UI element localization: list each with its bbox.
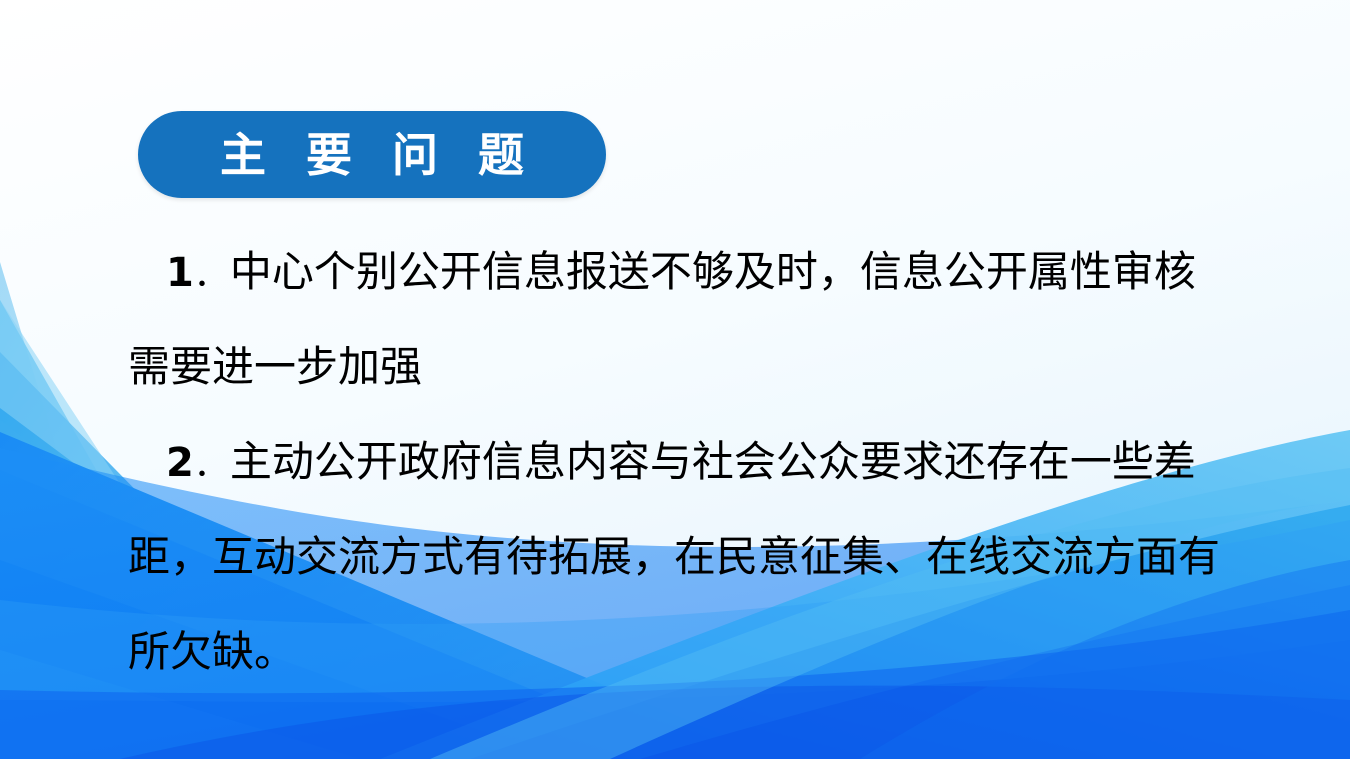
body-line-3-text: 主动公开政府信息内容与社会公众要求还存在一些差 — [230, 440, 1196, 486]
title-badge-label: 主 要 问 题 — [208, 132, 536, 178]
body-line-1-text: 中心个别公开信息报送不够及时，信息公开属性审核 — [230, 250, 1196, 296]
title-badge: 主 要 问 题 — [138, 111, 606, 198]
body-line-5: 所欠缺。 — [0, 606, 1350, 701]
list-separator-1: ． — [194, 257, 230, 294]
list-marker-2: 2 — [166, 440, 194, 486]
body-line-2: 需要进一步加强 — [0, 321, 1350, 416]
slide-canvas: 主 要 问 题 1．中心个别公开信息报送不够及时，信息公开属性审核 需要进一步加… — [0, 0, 1350, 759]
body-line-4-text: 距，互动交流方式有待拓展，在民意征集、在线交流方面有 — [128, 535, 1220, 581]
list-separator-2: ． — [194, 447, 230, 484]
body-line-4: 距，互动交流方式有待拓展，在民意征集、在线交流方面有 — [0, 511, 1350, 606]
body-line-3: 2．主动公开政府信息内容与社会公众要求还存在一些差 — [0, 416, 1350, 511]
body-text-block: 1．中心个别公开信息报送不够及时，信息公开属性审核 需要进一步加强 2．主动公开… — [0, 226, 1350, 701]
body-line-1: 1．中心个别公开信息报送不够及时，信息公开属性审核 — [0, 226, 1350, 321]
body-line-5-text: 所欠缺。 — [128, 630, 296, 676]
list-marker-1: 1 — [166, 250, 194, 296]
body-line-2-text: 需要进一步加强 — [128, 345, 422, 391]
